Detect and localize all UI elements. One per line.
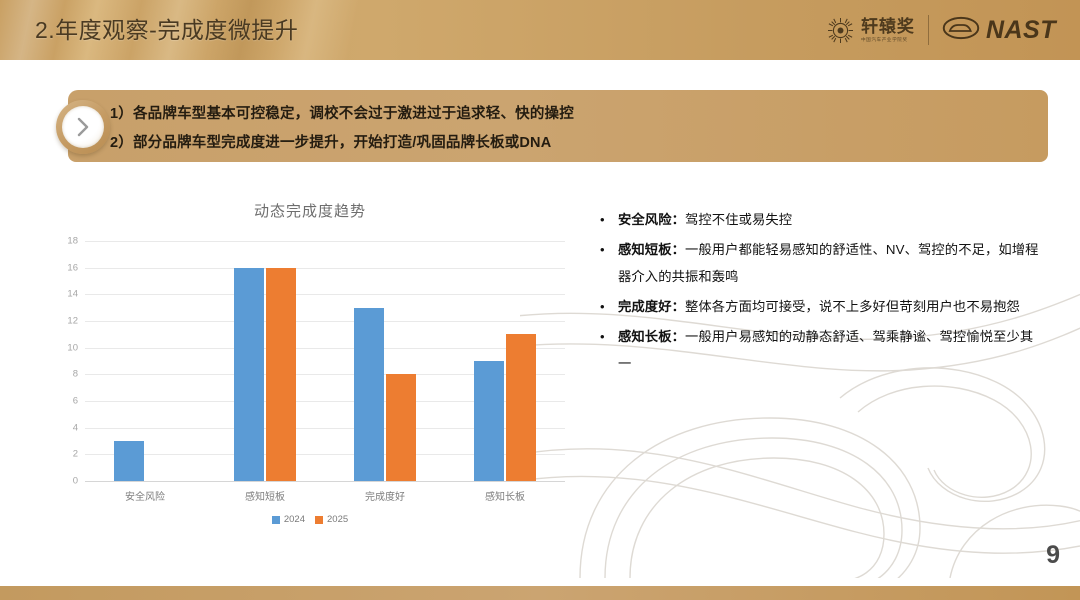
- chart-bar-2024-感知短板: [234, 268, 264, 481]
- sun-wheel-icon: [827, 17, 854, 44]
- bullet-list: •安全风险：驾控不住或易失控•感知短板：一般用户都能轻易感知的舒适性、NV、驾控…: [600, 206, 1040, 380]
- chart-y-tick-label: 6: [73, 396, 78, 407]
- logo-zone: 轩辕奖 中国汽车产业学院奖 NAST: [827, 0, 1056, 60]
- chart-y-tick-label: 10: [67, 342, 78, 353]
- chart-bar-2025-完成度好: [386, 374, 416, 481]
- chart-bar-2025-感知短板: [266, 268, 296, 481]
- banner-line-2: 2）部分品牌车型完成度进一步提升，开始打造/巩固品牌长板或DNA: [110, 131, 1010, 152]
- chart-title: 动态完成度趋势: [30, 200, 590, 221]
- chart-y-tick-label: 14: [67, 289, 78, 300]
- chart-bar-group: [325, 241, 445, 481]
- chart-legend: 20242025: [30, 514, 590, 525]
- chart-x-tick-label: 感知长板: [445, 488, 565, 503]
- banner-arrow-badge: [56, 100, 110, 154]
- chart-x-tick-label: 完成度好: [325, 488, 445, 503]
- banner-arrow-inner-circle: [62, 106, 104, 148]
- bullet-text: 完成度好：整体各方面均可接受，说不上多好但苛刻用户也不易抱怨: [618, 293, 1040, 320]
- bullet-term: 感知短板：: [618, 242, 685, 257]
- chart-legend-item-2024[interactable]: 2024: [272, 514, 305, 525]
- bullet-item-2: •感知短板：一般用户都能轻易感知的舒适性、NV、驾控的不足，如增程器介入的共振和…: [600, 236, 1040, 290]
- chart-bar-2024-安全风险: [114, 441, 144, 481]
- xuanyuan-wordmark: 轩辕奖 中国汽车产业学院奖: [861, 18, 915, 43]
- slide-root: 2.年度观察-完成度微提升: [0, 0, 1080, 600]
- chart-plot-area: 181614121086420: [85, 241, 565, 481]
- xuanyuan-tagline: 中国汽车产业学院奖: [861, 38, 915, 43]
- chart-x-tick-label: 感知短板: [205, 488, 325, 503]
- chart-panel: 动态完成度趋势 181614121086420 安全风险感知短板完成度好感知长板…: [30, 196, 590, 536]
- bullet-item-4: •感知长板：一般用户易感知的动静态舒适、驾乘静谧、驾控愉悦至少其一: [600, 323, 1040, 377]
- bullet-item-3: •完成度好：整体各方面均可接受，说不上多好但苛刻用户也不易抱怨: [600, 293, 1040, 320]
- chart-bar-2024-完成度好: [354, 308, 384, 481]
- nast-logo: NAST: [942, 16, 1056, 45]
- bullet-description: 驾控不住或易失控: [685, 212, 792, 227]
- xuanyuan-name: 轩辕奖: [861, 18, 915, 35]
- bullet-marker-icon: •: [600, 293, 618, 320]
- page-number: 9: [1046, 541, 1060, 570]
- bullet-marker-icon: •: [600, 323, 618, 350]
- chart-bar-group: [205, 241, 325, 481]
- chart-y-tick-label: 16: [67, 262, 78, 273]
- bullet-marker-icon: •: [600, 206, 618, 233]
- bullet-term: 感知长板：: [618, 329, 685, 344]
- chart-y-tick-label: 12: [67, 316, 78, 327]
- chart-legend-item-2025[interactable]: 2025: [315, 514, 348, 525]
- chart-gridline: 0: [85, 481, 565, 482]
- chart-y-tick-label: 4: [73, 422, 78, 433]
- bullet-text: 安全风险：驾控不住或易失控: [618, 206, 1040, 233]
- legend-swatch-icon: [315, 516, 323, 524]
- chart-x-axis-labels: 安全风险感知短板完成度好感知长板: [85, 488, 565, 503]
- banner-text-block: 1）各品牌车型基本可控稳定，调校不会过于激进过于追求轻、快的操控 2）部分品牌车…: [110, 94, 1010, 160]
- chart-bar-group: [85, 241, 205, 481]
- chart-y-tick-label: 18: [67, 236, 78, 247]
- chart-y-tick-label: 0: [73, 476, 78, 487]
- page-title: 2.年度观察-完成度微提升: [35, 0, 298, 60]
- logo-divider: [928, 15, 929, 45]
- footer-bar: [0, 586, 1080, 600]
- chart-bar-2025-感知长板: [506, 334, 536, 481]
- chevron-right-icon: [74, 116, 92, 138]
- car-oval-icon: [942, 16, 980, 45]
- chart-bar-2024-感知长板: [474, 361, 504, 481]
- bullet-text: 感知长板：一般用户易感知的动静态舒适、驾乘静谧、驾控愉悦至少其一: [618, 323, 1040, 377]
- bullet-term: 安全风险：: [618, 212, 685, 227]
- chart-x-tick-label: 安全风险: [85, 488, 205, 503]
- chart-y-tick-label: 8: [73, 369, 78, 380]
- bullet-marker-icon: •: [600, 236, 618, 263]
- chart-bar-group: [445, 241, 565, 481]
- nast-wordmark: NAST: [986, 16, 1056, 45]
- legend-label: 2025: [327, 514, 348, 525]
- bullet-item-1: •安全风险：驾控不住或易失控: [600, 206, 1040, 233]
- chart-y-tick-label: 2: [73, 449, 78, 460]
- legend-label: 2024: [284, 514, 305, 525]
- chart-bar-groups: [85, 241, 565, 481]
- bullet-description: 整体各方面均可接受，说不上多好但苛刻用户也不易抱怨: [685, 299, 1020, 314]
- xuanyuan-logo: 轩辕奖 中国汽车产业学院奖: [827, 17, 915, 44]
- slide-header: 2.年度观察-完成度微提升: [0, 0, 1080, 60]
- banner-line-1: 1）各品牌车型基本可控稳定，调校不会过于激进过于追求轻、快的操控: [110, 102, 1010, 123]
- bullet-term: 完成度好：: [618, 299, 685, 314]
- legend-swatch-icon: [272, 516, 280, 524]
- bullet-text: 感知短板：一般用户都能轻易感知的舒适性、NV、驾控的不足，如增程器介入的共振和轰…: [618, 236, 1040, 290]
